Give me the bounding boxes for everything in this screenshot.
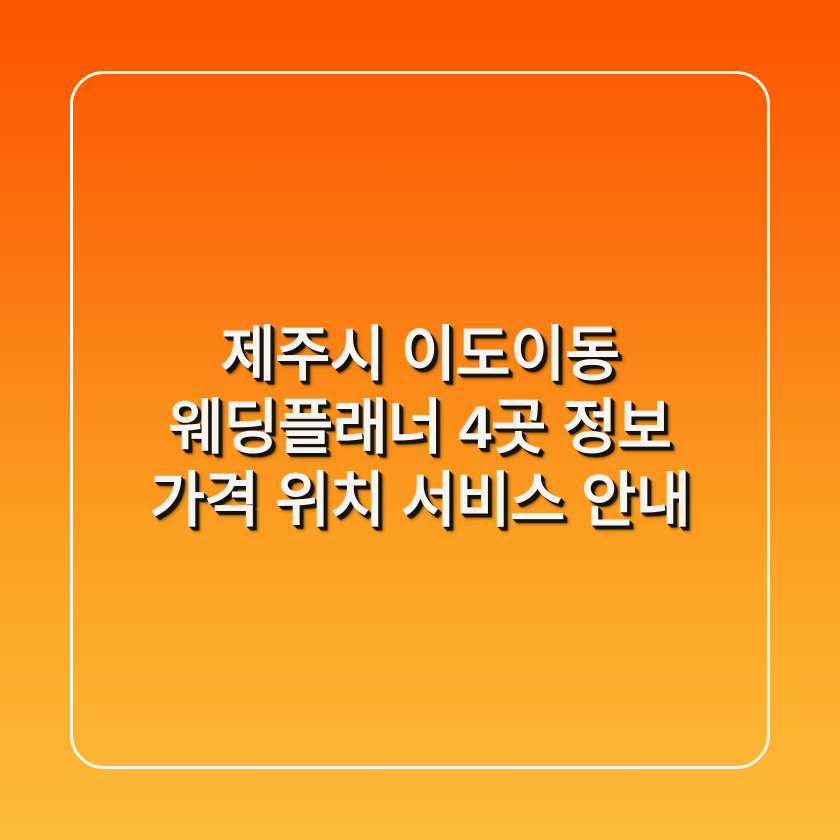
headline-line-2: 웨딩플래너 4곳 정보 [60,391,780,464]
headline-line-1: 제주시 이도이동 [60,318,780,391]
headline-line-3: 가격 위치 서비스 안내 [60,464,780,537]
headline-text-block: 제주시 이도이동 웨딩플래너 4곳 정보 가격 위치 서비스 안내 [0,318,840,537]
poster-canvas: 제주시 이도이동 웨딩플래너 4곳 정보 가격 위치 서비스 안내 [0,0,840,840]
